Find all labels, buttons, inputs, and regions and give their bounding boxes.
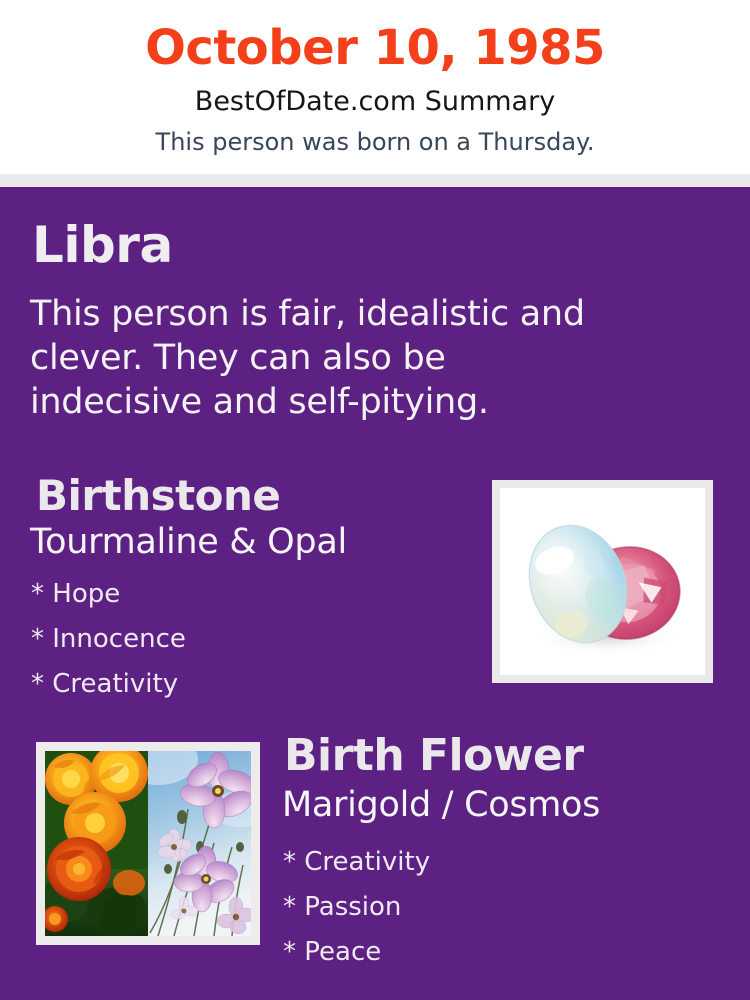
- birthstone-image: [500, 488, 705, 675]
- page-header: October 10, 1985 BestOfDate.com Summary …: [0, 0, 750, 175]
- site-subtitle: BestOfDate.com Summary: [0, 88, 750, 115]
- list-item: * Peace: [283, 930, 430, 975]
- birthflower-names: Marigold / Cosmos: [282, 788, 600, 823]
- birthstone-image-frame: [492, 480, 713, 683]
- list-item: * Creativity: [31, 662, 186, 707]
- list-item: * Innocence: [31, 617, 186, 662]
- zodiac-description: This person is fair, idealistic and clev…: [30, 292, 610, 424]
- marigold-illustration: [45, 751, 148, 936]
- birthflower-trait-list: * Creativity * Passion * Peace: [283, 840, 430, 975]
- list-item: * Creativity: [283, 840, 430, 885]
- birthstone-heading: Birthstone: [36, 475, 280, 517]
- birthflower-image: [45, 751, 251, 936]
- zodiac-sign-title: Libra: [32, 220, 173, 270]
- header-divider: [0, 174, 750, 187]
- cosmos-photo-half: [148, 751, 251, 936]
- cosmos-illustration: [148, 751, 251, 936]
- birthflower-heading: Birth Flower: [284, 734, 584, 778]
- gemstones-illustration: [500, 488, 705, 675]
- birthstone-trait-list: * Hope * Innocence * Creativity: [31, 572, 186, 707]
- birthflower-image-frame: [36, 742, 260, 945]
- page-root: October 10, 1985 BestOfDate.com Summary …: [0, 0, 750, 1000]
- list-item: * Passion: [283, 885, 430, 930]
- list-item: * Hope: [31, 572, 186, 617]
- marigold-photo-half: [45, 751, 148, 936]
- birthstone-names: Tourmaline & Opal: [30, 525, 347, 560]
- birth-day-note: This person was born on a Thursday.: [0, 130, 750, 154]
- page-title: October 10, 1985: [0, 24, 750, 72]
